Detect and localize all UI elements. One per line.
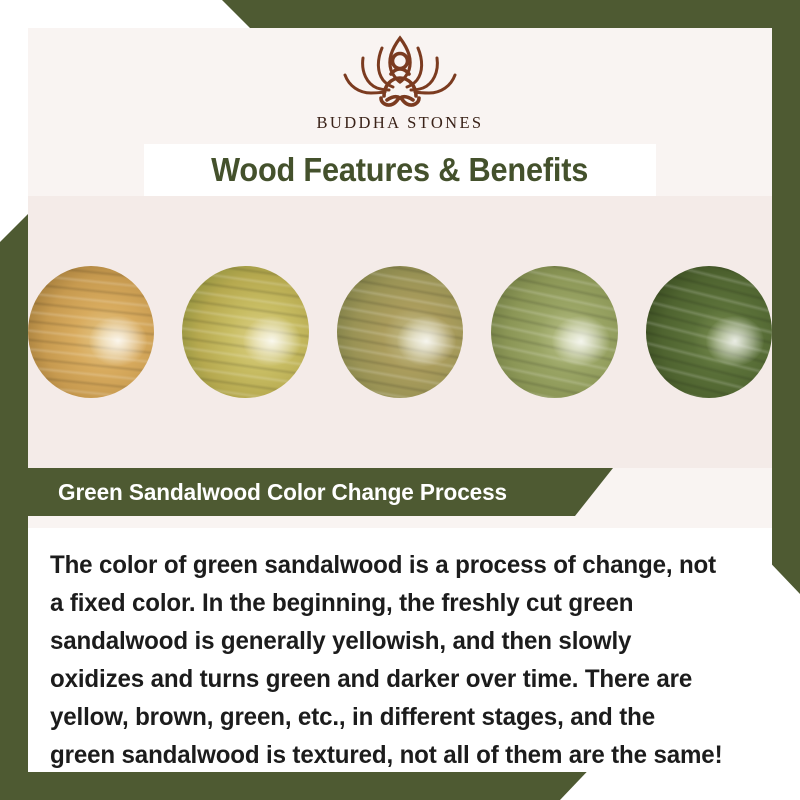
lotus-meditation-figure-icon <box>325 30 475 112</box>
title-banner: Wood Features & Benefits <box>144 144 656 196</box>
bead-color-stages-row <box>28 196 772 468</box>
section-banner: Green Sandalwood Color Change Process <box>28 468 613 516</box>
brand-name: BUDDHA STONES <box>316 113 483 133</box>
page-title: Wood Features & Benefits <box>212 151 589 189</box>
bead-specular-highlight <box>89 316 147 366</box>
poster-root: BUDDHA STONES Wood Features & Benefits G… <box>0 0 800 800</box>
bead-stage-3 <box>337 266 463 398</box>
bead-stage-1 <box>28 266 154 398</box>
brand-header: BUDDHA STONES <box>28 28 772 146</box>
section-banner-label: Green Sandalwood Color Change Process <box>58 479 507 506</box>
bead-specular-highlight <box>397 316 455 366</box>
bead-stage-2 <box>182 266 308 398</box>
poster-canvas: BUDDHA STONES Wood Features & Benefits G… <box>28 28 772 772</box>
body-panel: The color of green sandalwood is a proce… <box>28 528 772 772</box>
body-paragraph: The color of green sandalwood is a proce… <box>50 546 726 774</box>
bead-stage-5 <box>646 266 772 398</box>
bead-specular-highlight <box>552 316 610 366</box>
bead-stage-4 <box>491 266 617 398</box>
